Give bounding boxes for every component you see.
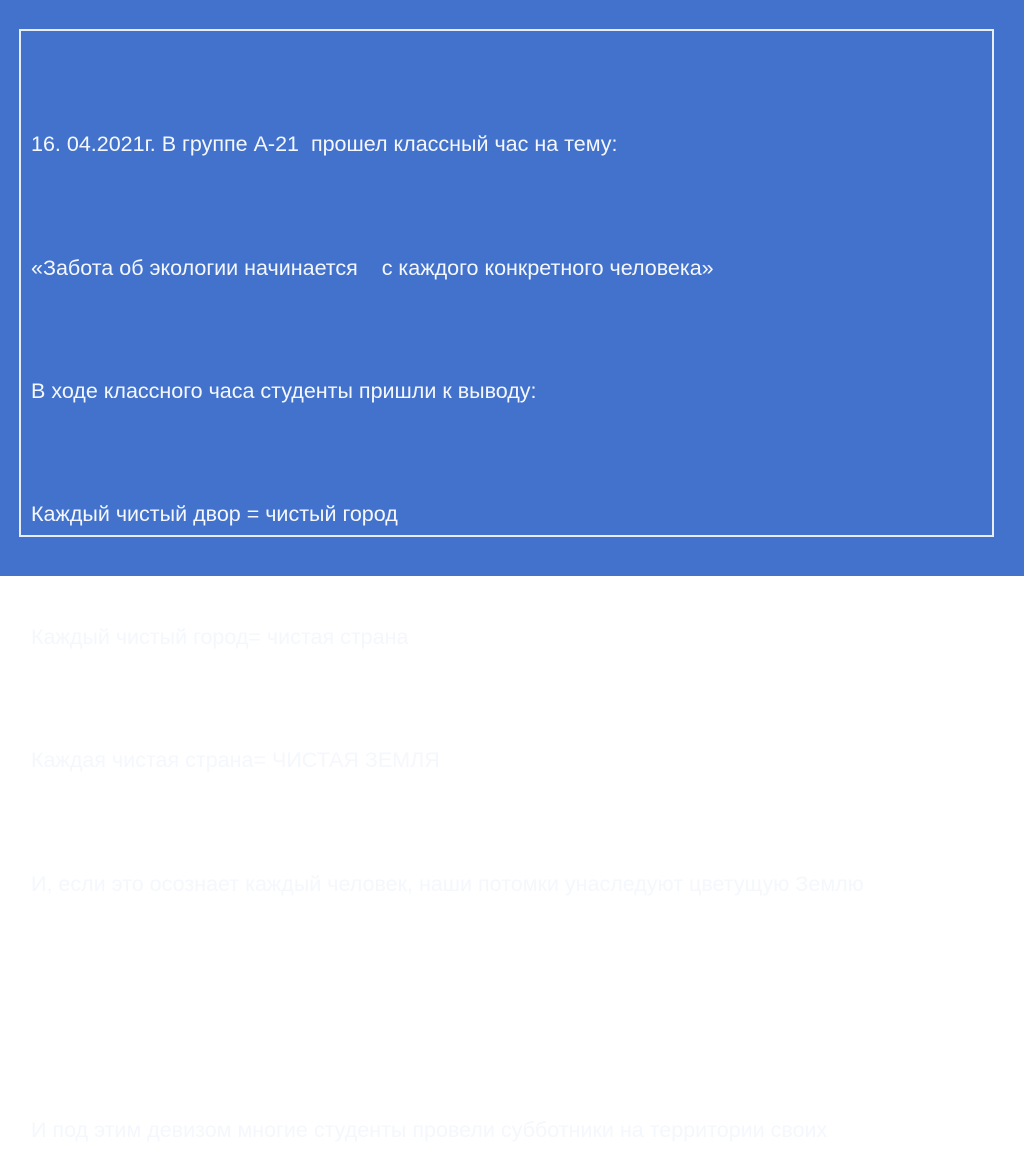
text-line-conclusion-intro: В ходе классного часа студенты пришли к … [31,376,986,407]
slide-text-block: 16. 04.2021г. В группе А-21 прошел класс… [31,37,986,1152]
text-line-city-country: Каждый чистый город= чистая страна [31,622,986,653]
text-line-descendants: И, если это осознает каждый человек, наш… [31,869,986,900]
text-line-subbotniks: И под этим девизом многие студенты прове… [31,1115,986,1146]
slide-canvas: 16. 04.2021г. В группе А-21 прошел класс… [0,0,1024,576]
text-line-theme-quote: «Забота об экологии начинается с каждого… [31,253,986,284]
text-line-yard-city: Каждый чистый двор = чистый город [31,499,986,530]
content-frame: 16. 04.2021г. В группе А-21 прошел класс… [19,29,994,537]
text-line-country-earth: Каждая чистая страна= ЧИСТАЯ ЗЕМЛЯ [31,745,986,776]
text-line-spacer [31,992,986,1023]
text-line-date-group: 16. 04.2021г. В группе А-21 прошел класс… [31,129,986,160]
